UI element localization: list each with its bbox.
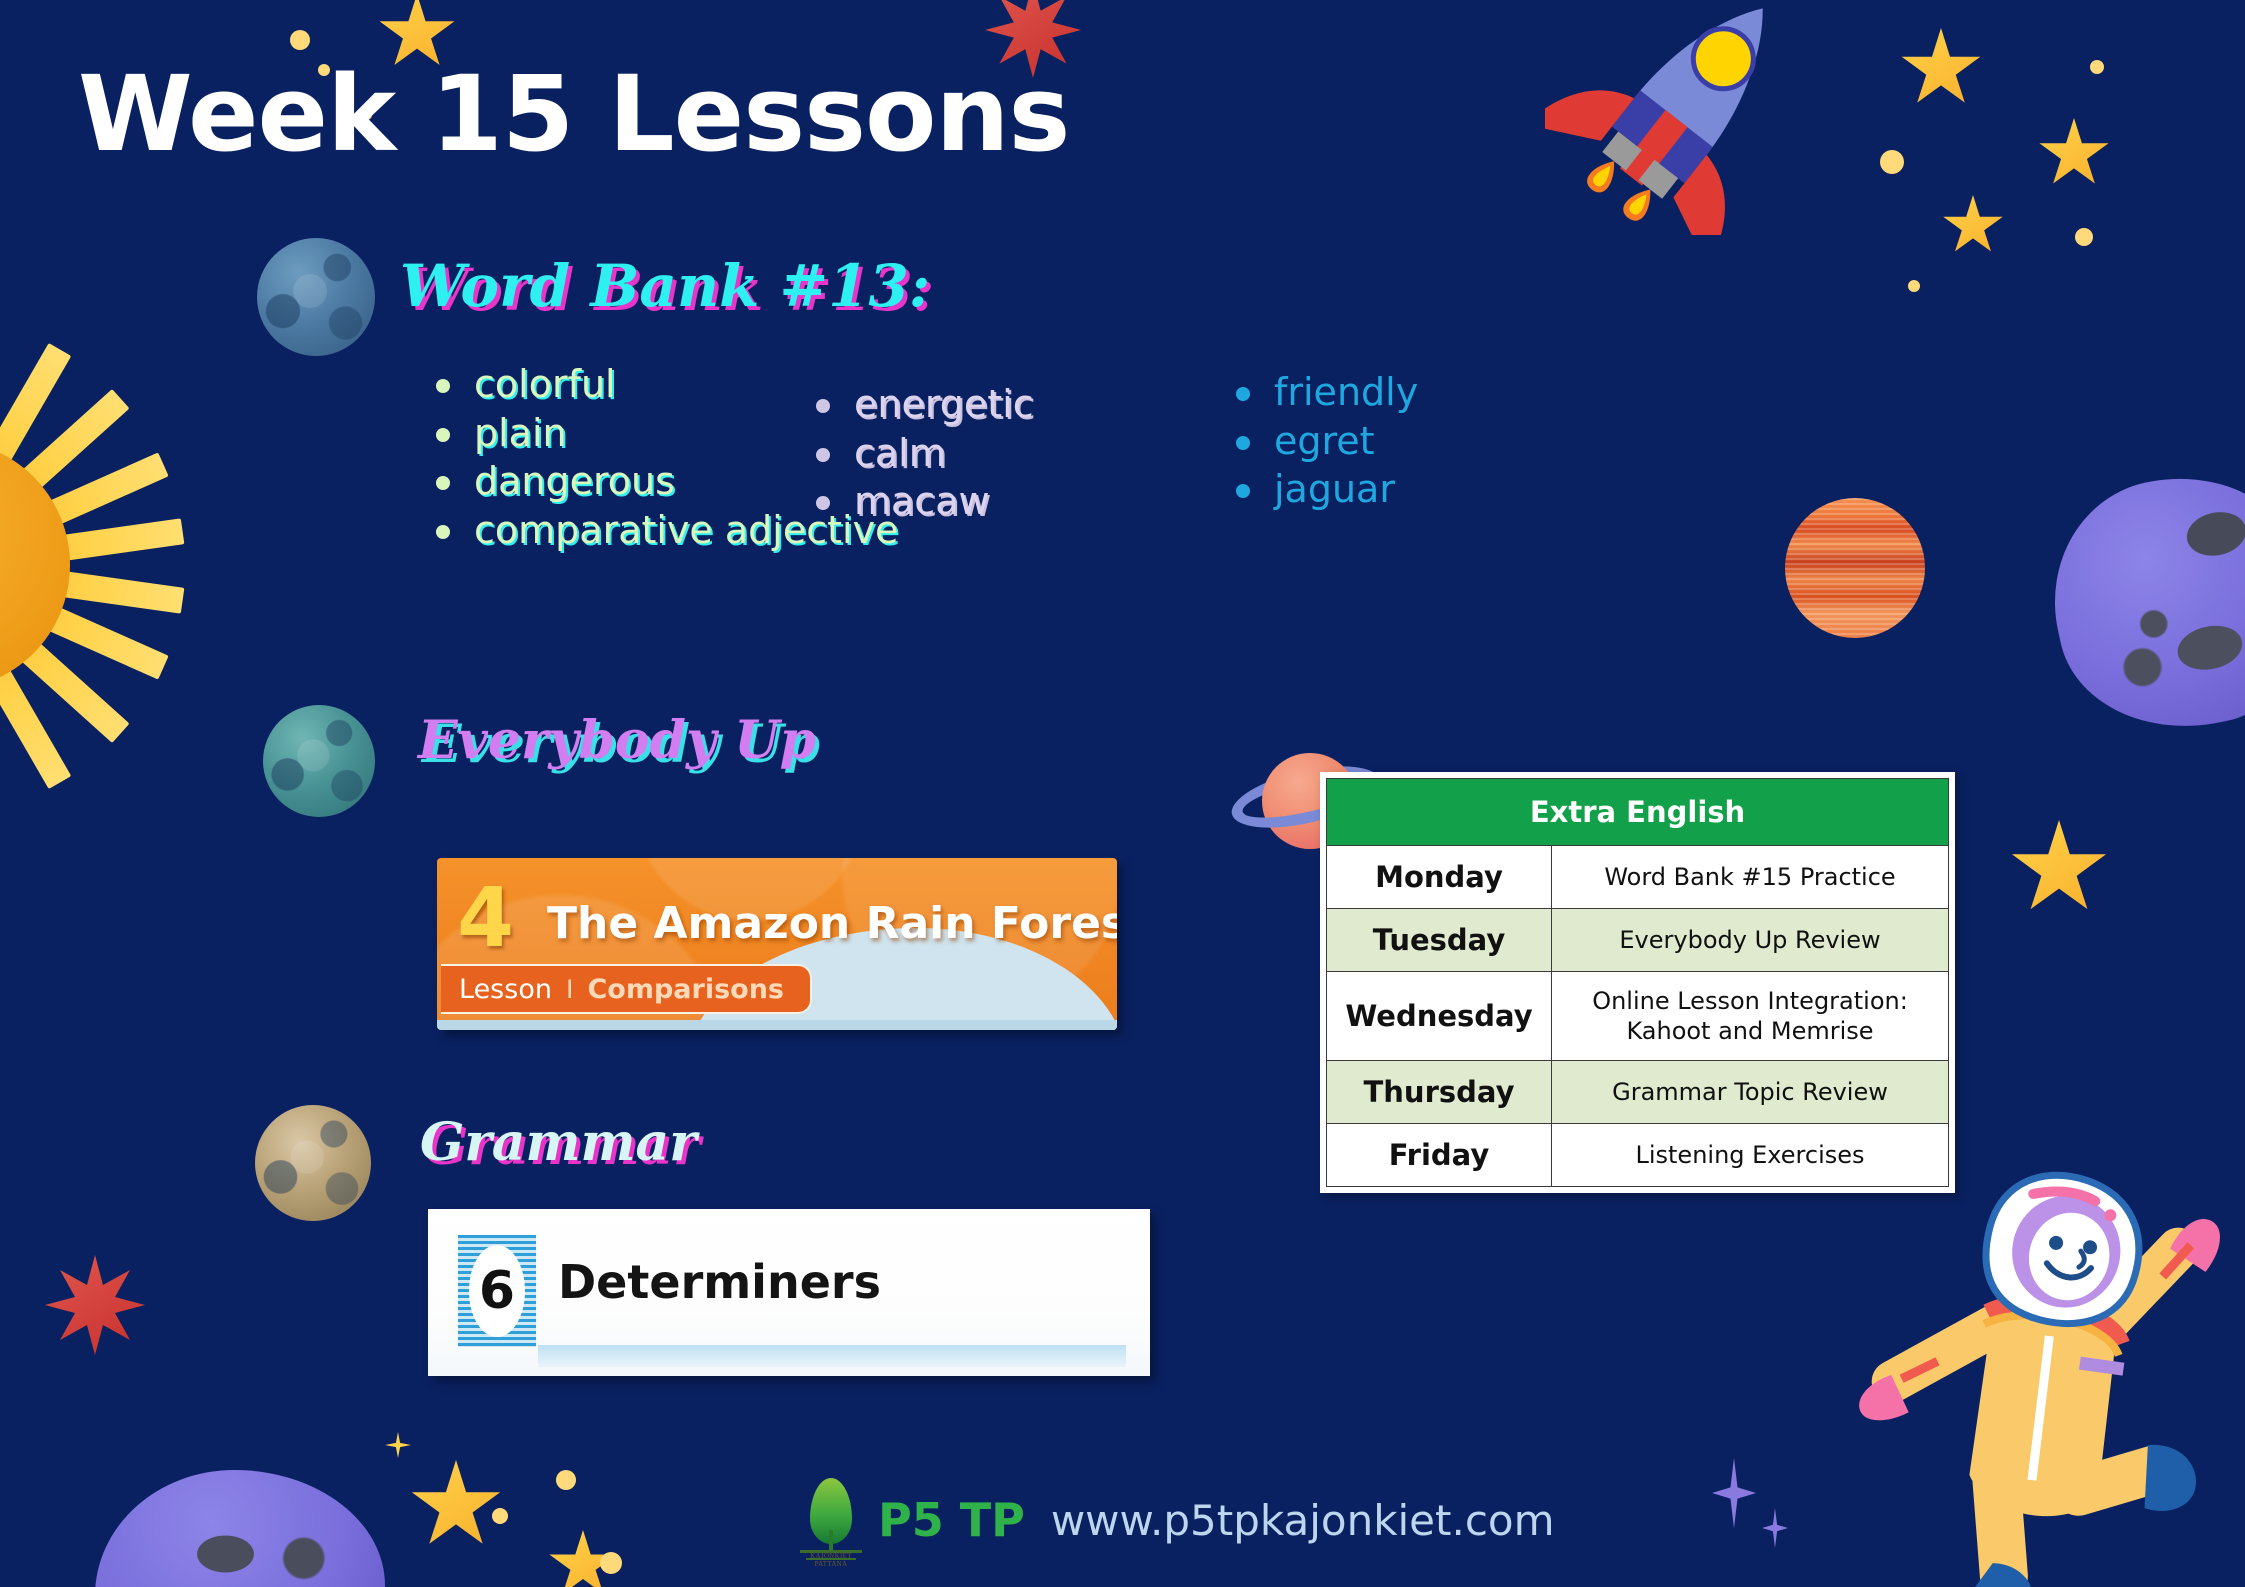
website-url[interactable]: www.p5tpkajonkiet.com [1051, 1496, 1555, 1545]
star-icon [2010, 820, 2108, 918]
table-row: Tuesday Everybody Up Review [1327, 909, 1949, 972]
brand-label: P5 TP [878, 1493, 1025, 1547]
banner-unit-number: 4 [457, 878, 514, 960]
list-item: calm [810, 429, 1034, 478]
banner-unit-title: The Amazon Rain Forest [547, 898, 1117, 949]
asteroid-icon [95, 1470, 385, 1587]
star-dot-icon [1908, 280, 1920, 292]
star-dot-icon [600, 1552, 622, 1574]
grammar-number-badge: 6 [458, 1235, 536, 1347]
everybody-up-banner: 4 The Amazon Rain Forest Lesson I Compar… [437, 858, 1117, 1030]
list-item: egret [1230, 417, 1418, 466]
table-cell-activity: Grammar Topic Review [1552, 1061, 1949, 1124]
grammar-topic-title: Determiners [558, 1255, 881, 1309]
grammar-heading: Grammar [420, 1112, 697, 1173]
banner-lesson-label: Lesson [459, 974, 552, 1005]
table-row: Thursday Grammar Topic Review [1327, 1061, 1949, 1124]
planet-icon [1785, 498, 1925, 638]
table-cell-activity: Word Bank #15 Practice [1552, 846, 1949, 909]
star-dot-icon [290, 30, 310, 50]
everybody-up-heading: Everybody Up [418, 710, 816, 771]
table-row: Wednesday Online Lesson Integration: Kah… [1327, 972, 1949, 1061]
banner-lesson-separator: I [566, 974, 574, 1005]
word-bank-column-3: friendly egret jaguar [1230, 368, 1418, 514]
rocket-icon [1545, 0, 1845, 235]
star-icon [1712, 1458, 1756, 1528]
star-icon [1900, 28, 1982, 110]
table-cell-day: Thursday [1327, 1061, 1552, 1124]
school-name: KAJONKIET PATTANA [800, 1552, 862, 1568]
footer: KAJONKIET PATTANA P5 TP www.p5tpkajonkie… [800, 1478, 1555, 1562]
star-icon [1762, 1508, 1788, 1548]
banner-footer-line [437, 1020, 1117, 1030]
table-cell-day: Monday [1327, 846, 1552, 909]
page-title: Week 15 Lessons [78, 62, 1069, 166]
poster-canvas: Week 15 Lessons Word Bank #13: colorful … [0, 0, 2245, 1587]
list-item: friendly [1230, 368, 1418, 417]
list-item: jaguar [1230, 465, 1418, 514]
star-dot-icon [1880, 150, 1904, 174]
moon-icon [257, 238, 375, 356]
word-bank-heading: Word Bank #13: [400, 252, 930, 320]
table-cell-day: Tuesday [1327, 909, 1552, 972]
sun-icon [0, 265, 260, 775]
table-row: Friday Listening Exercises [1327, 1124, 1949, 1187]
table-cell-activity: Everybody Up Review [1552, 909, 1949, 972]
star-icon [410, 1460, 502, 1552]
grammar-underbar [538, 1345, 1126, 1367]
table-cell-activity: Online Lesson Integration: Kahoot and Me… [1552, 972, 1949, 1061]
banner-lesson-tab: Lesson I Comparisons [441, 964, 812, 1014]
table-row: Monday Word Bank #15 Practice [1327, 846, 1949, 909]
moon-icon [263, 705, 375, 817]
star-icon [1942, 195, 2004, 257]
star-icon [2038, 118, 2110, 190]
banner-lesson-title: Comparisons [587, 974, 784, 1005]
asteroid-icon [2032, 455, 2245, 752]
table-cell-activity: Listening Exercises [1552, 1124, 1949, 1187]
star-dot-icon [2090, 60, 2104, 74]
star-icon [45, 1255, 145, 1355]
astronaut-icon [1845, 1150, 2245, 1587]
table-header: Extra English [1327, 779, 1949, 846]
table-cell-day: Wednesday [1327, 972, 1552, 1061]
star-dot-icon [2075, 228, 2093, 246]
table-cell-day: Friday [1327, 1124, 1552, 1187]
list-item: macaw [810, 477, 1034, 526]
grammar-topic-box: 6 Determiners [428, 1209, 1150, 1376]
star-dot-icon [556, 1470, 576, 1490]
word-bank-column-2: energetic calm macaw [810, 380, 1034, 526]
grammar-number: 6 [469, 1245, 525, 1337]
star-icon [385, 1432, 411, 1458]
extra-english-table: Extra English Monday Word Bank #15 Pract… [1320, 772, 1955, 1193]
star-dot-icon [492, 1508, 508, 1524]
moon-icon [255, 1105, 371, 1221]
list-item: energetic [810, 380, 1034, 429]
leaf-logo-icon: KAJONKIET PATTANA [800, 1478, 862, 1562]
